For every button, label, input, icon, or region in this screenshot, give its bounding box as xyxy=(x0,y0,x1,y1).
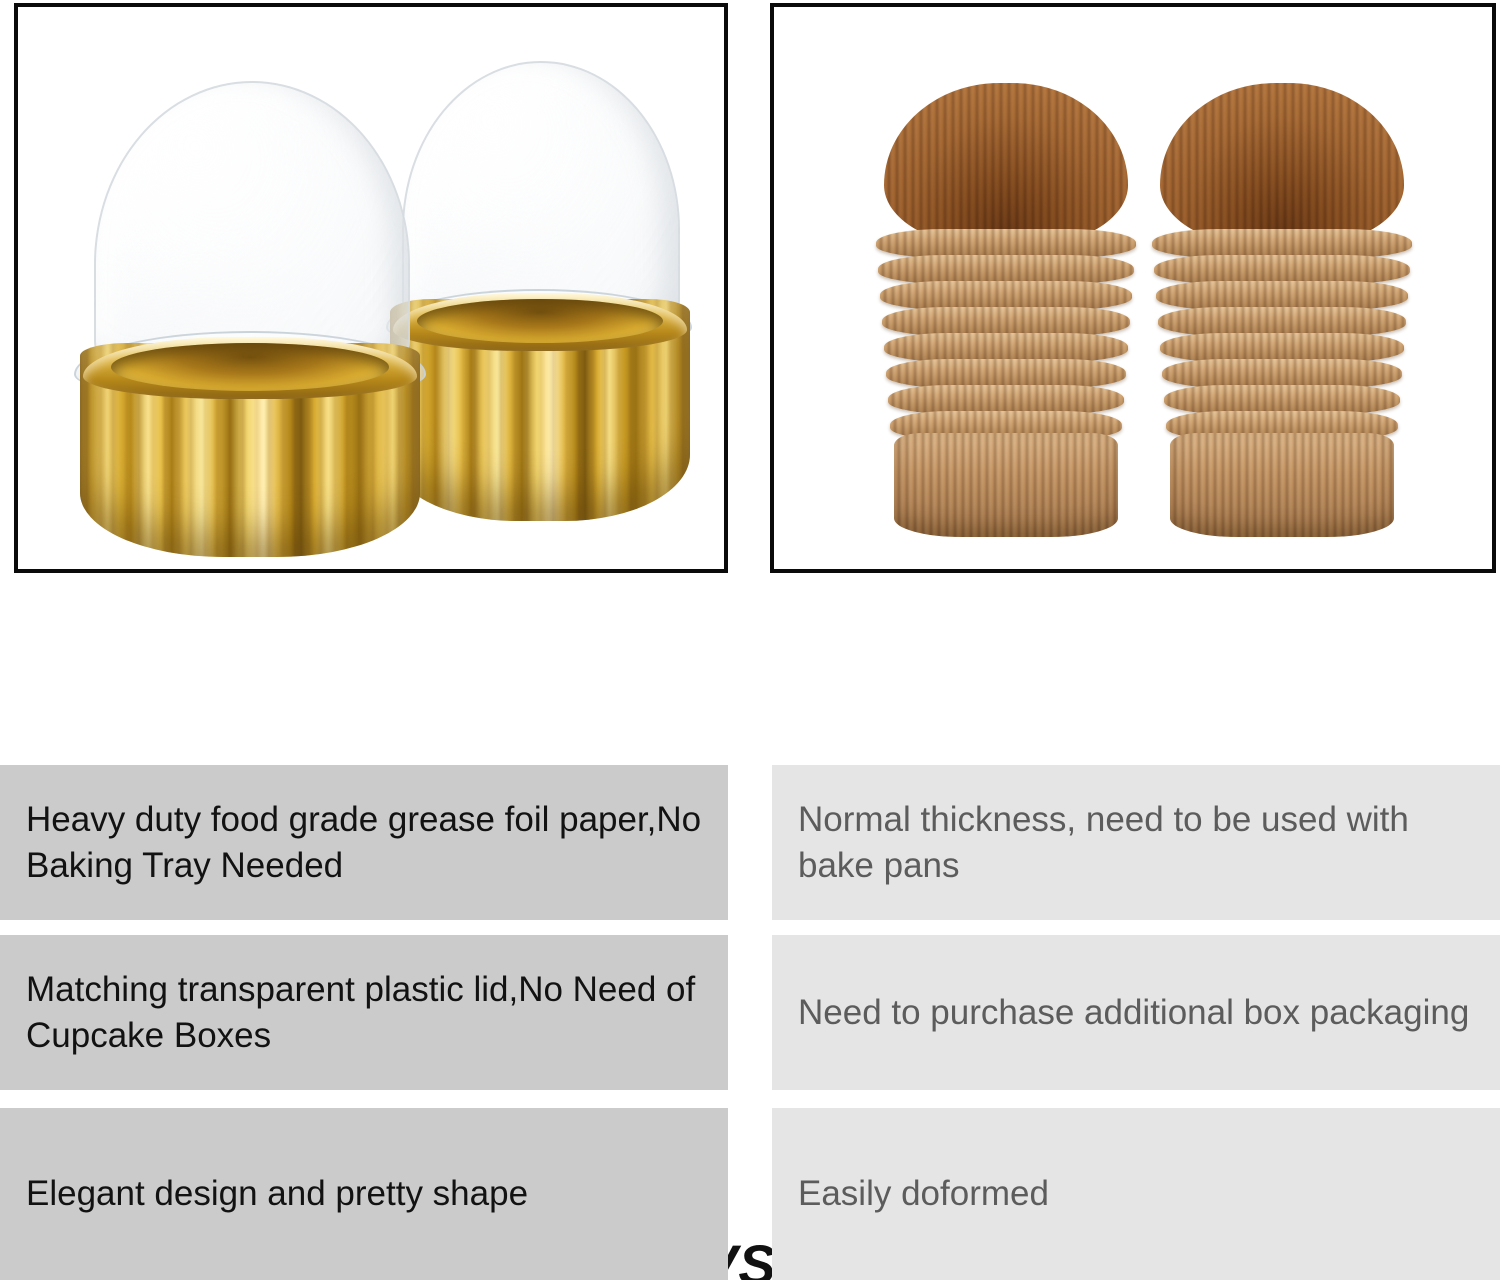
kraft-paper-cupcake-liner-stack-icon xyxy=(774,7,1492,569)
gold-foil-cup-with-dome-lid-icon xyxy=(18,7,724,569)
product-photos-row xyxy=(0,0,1500,578)
cell-normal-2: Need to purchase additional box packagin… xyxy=(772,935,1500,1090)
cell-ours-1: Heavy duty food grade grease foil paper,… xyxy=(0,765,728,920)
cell-normal-3: Easily doformed xyxy=(772,1108,1500,1280)
product-photo-ours xyxy=(14,3,728,573)
table-row: Heavy duty food grade grease foil paper,… xyxy=(0,765,1500,920)
cell-ours-2: Matching transparent plastic lid,No Need… xyxy=(0,935,728,1090)
cell-normal-1-text: Normal thickness, need to be used with b… xyxy=(772,797,1500,888)
product-photo-normal xyxy=(770,3,1496,573)
cell-normal-2-text: Need to purchase additional box packagin… xyxy=(772,990,1495,1036)
cell-normal-1: Normal thickness, need to be used with b… xyxy=(772,765,1500,920)
cell-ours-3: Elegant design and pretty shape xyxy=(0,1108,728,1280)
comparison-table: Heavy duty food grade grease foil paper,… xyxy=(0,760,1500,1280)
cell-ours-2-text: Matching transparent plastic lid,No Need… xyxy=(0,967,728,1058)
comparison-header-band: Our baking cups VS Nomal baking cups xyxy=(0,600,1500,720)
table-row: Elegant design and pretty shape Easily d… xyxy=(0,1108,1500,1280)
cell-normal-3-text: Easily doformed xyxy=(772,1171,1075,1217)
table-row: Matching transparent plastic lid,No Need… xyxy=(0,935,1500,1090)
cell-ours-3-text: Elegant design and pretty shape xyxy=(0,1171,554,1217)
product-comparison-infographic: Our baking cups VS Nomal baking cups Hea… xyxy=(0,0,1500,1280)
cell-ours-1-text: Heavy duty food grade grease foil paper,… xyxy=(0,797,728,888)
